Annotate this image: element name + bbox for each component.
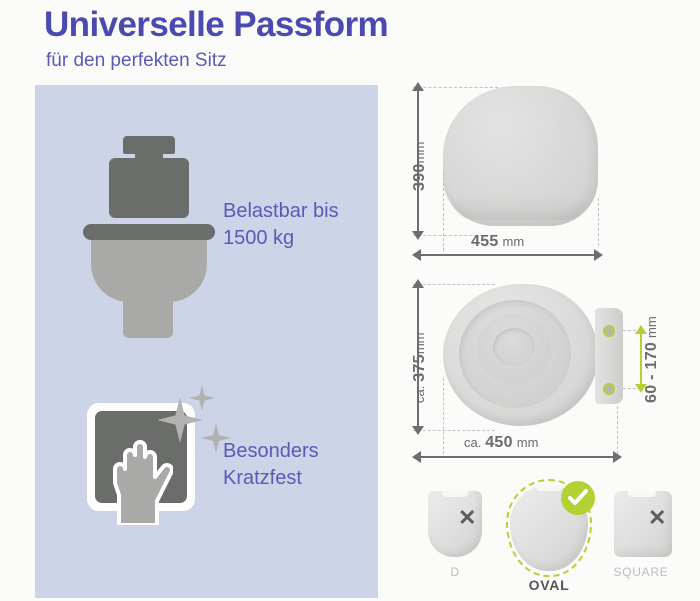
scratch-resistant-hand-icon [65, 385, 215, 545]
hinge-hole-icon [603, 383, 615, 395]
lid-height-label: 390mm [411, 142, 429, 191]
toilet-seat-illustration [443, 284, 598, 426]
feature-label-load-capacity: Belastbar bis 1500 kg [215, 198, 339, 252]
seat-width-dimension-line [417, 456, 618, 458]
shape-label-square: SQUARE [598, 565, 684, 579]
x-mark-icon: ✕ [648, 507, 666, 529]
hand-icon [107, 425, 173, 525]
header: Universelle Passform für den perfekten S… [44, 4, 474, 73]
seat-height-label: ca. 375mm [411, 332, 429, 403]
hinge-spacing-dimension-line [640, 330, 642, 388]
toilet-lid-illustration [443, 86, 598, 226]
lid-width-dimension-line [417, 254, 599, 256]
seat-dimension-diagram: ca. 375mm ca. 450 mm 60 - 170 mm [395, 278, 700, 478]
x-mark-icon: ✕ [458, 507, 476, 529]
shape-label-d: D [412, 565, 498, 579]
feature-item-scratch-resistance: Besonders Kratzfest [65, 385, 365, 545]
page-title: Universelle Passform [44, 4, 474, 46]
hinge-spacing-label: 60 - 170 mm [643, 316, 661, 403]
sparkle-icon [189, 385, 215, 411]
feature-item-load-capacity: Belastbar bis 1500 kg [65, 120, 365, 330]
lid-dimension-diagram: 390mm 455 mm [395, 78, 700, 273]
page-subtitle: für den perfekten Sitz [46, 49, 474, 73]
weight-on-toilet-icon [65, 120, 215, 330]
lid-width-label: 455 mm [471, 233, 524, 251]
shape-comparison: ✕ D OVAL ✕ SQUARE [398, 483, 698, 601]
feature-panel: Belastbar bis 1500 kg Besonders Kratzfes… [35, 85, 378, 598]
hinge-hole-icon [603, 325, 615, 337]
feature-label-scratch-resistance: Besonders Kratzfest [215, 438, 319, 492]
shape-label-oval: OVAL [506, 577, 592, 593]
seat-width-label: ca. 450 mm [464, 434, 538, 452]
check-mark-icon [561, 481, 595, 515]
